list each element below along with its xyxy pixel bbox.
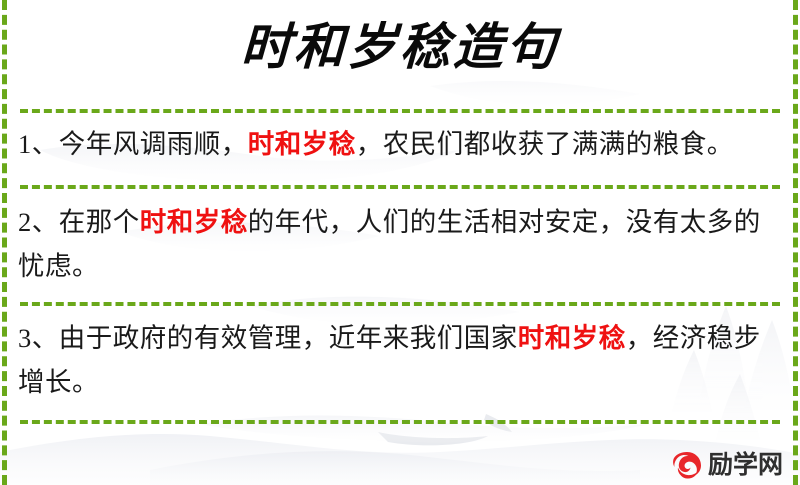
example-sentence-1: 1、今年风调雨顺，时和岁稔，农民们都收获了满满的粮食。 bbox=[18, 122, 783, 166]
example-sentence-3: 3、由于政府的有效管理，近年来我们国家时和岁稔，经济稳步增长。 bbox=[18, 316, 783, 404]
highlighted-idiom: 时和岁稔 bbox=[248, 129, 356, 159]
site-logo[interactable]: 励学网 bbox=[672, 449, 783, 482]
sentence-number: 2、 bbox=[18, 207, 59, 237]
separator-1 bbox=[20, 109, 780, 113]
swirl-icon bbox=[672, 450, 703, 481]
page-root: 时和岁稔造句 1、今年风调雨顺，时和岁稔，农民们都收获了满满的粮食。 2、在那个… bbox=[0, 0, 800, 485]
sentence-text: ，农民们都收获了满满的粮食。 bbox=[356, 129, 734, 159]
sentence-text: 由于政府的有效管理，近年来我们国家 bbox=[59, 323, 518, 353]
separator-3 bbox=[20, 302, 780, 306]
highlighted-idiom: 时和岁稔 bbox=[140, 207, 248, 237]
separator-4 bbox=[20, 420, 780, 424]
page-title: 时和岁稔造句 bbox=[0, 8, 800, 86]
sentence-text: 今年风调雨顺， bbox=[59, 129, 248, 159]
separator-2 bbox=[20, 185, 780, 189]
sentence-number: 1、 bbox=[18, 129, 59, 159]
logo-text: 励学网 bbox=[708, 452, 783, 479]
example-sentence-2: 2、在那个时和岁稔的年代，人们的生活相对安定，没有太多的忧虑。 bbox=[18, 200, 783, 288]
sentence-text: 在那个 bbox=[59, 207, 140, 237]
highlighted-idiom: 时和岁稔 bbox=[518, 323, 626, 353]
sentence-number: 3、 bbox=[18, 323, 59, 353]
